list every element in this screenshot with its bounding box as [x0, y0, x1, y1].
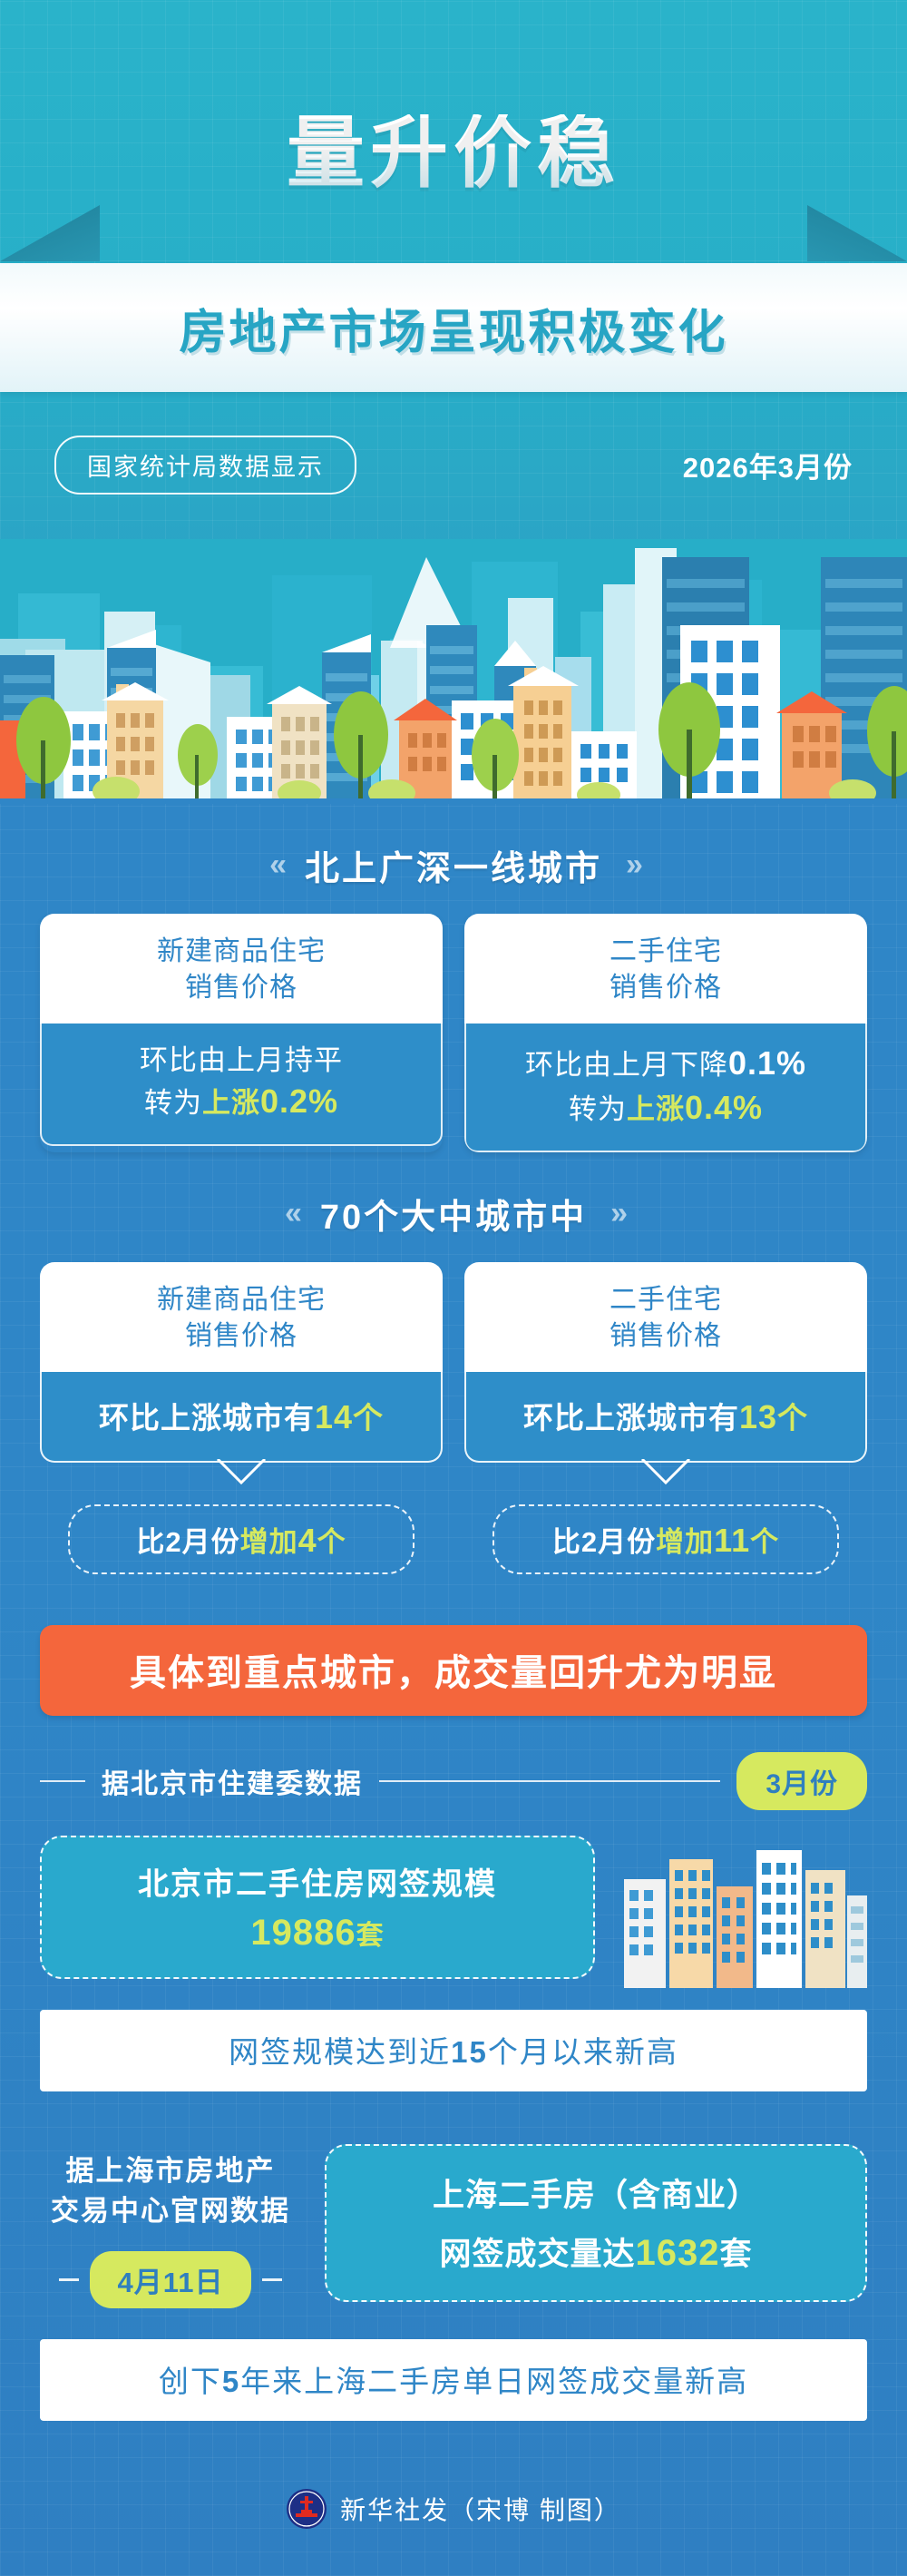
source-rule-right: [379, 1780, 720, 1782]
title-line-2: 销售价格: [49, 970, 434, 1006]
body-unit: 个: [353, 1401, 384, 1435]
beijing-stat-card: 北京市二手住房网签规模 19886套: [40, 1836, 595, 1979]
beijing-source-row: 据北京市住建委数据 3月份: [0, 1716, 907, 1810]
beijing-stat-unit: 套: [356, 1921, 385, 1951]
dash-tick-right: [262, 2278, 282, 2281]
shanghai-stat-value: 1632: [636, 2233, 720, 2273]
tier1-card-new-homes-body: 环比由上月持平 转为上涨0.2%: [40, 1024, 443, 1146]
skyline-svg: [0, 539, 907, 804]
source-pill: 国家统计局数据显示: [54, 436, 356, 495]
tier2-card-new-homes: 新建商品住宅 销售价格 环比上涨城市有14个 比2月份增加4个: [40, 1262, 443, 1574]
note-value: 11: [714, 1522, 750, 1559]
note-value: 4: [298, 1522, 317, 1559]
body-line-1: 环比由上月持平: [51, 1042, 432, 1080]
infographic-page: 量升价稳 房地产市场呈现积极变化 国家统计局数据显示 2026年3月份: [0, 0, 907, 2576]
section-heading-tier2-label: 70个大中城市中: [320, 1189, 587, 1239]
tier2-card-new-homes-title: 新建商品住宅 销售价格: [40, 1262, 443, 1372]
key-cities-banner: 具体到重点城市，成交量回升尤为明显: [40, 1625, 867, 1716]
shanghai-stat-label: 上海二手房（含商业）: [345, 2170, 847, 2216]
shanghai-highlight-bar: 创下5年来上海二手房单日网签成交量新高: [40, 2339, 867, 2421]
beijing-month-pill: 3月份: [736, 1752, 867, 1810]
bubble-tail-icon: [216, 1459, 267, 1484]
header-meta-row: 国家统计局数据显示 2026年3月份: [0, 392, 907, 495]
footer-credit-row: 新华社发（宋博 制图）: [0, 2421, 907, 2566]
shanghai-date-row: 4月11日: [40, 2251, 301, 2308]
body-line-2-prefix: 转为: [144, 1087, 202, 1119]
body-line-2: 转为上涨0.4%: [475, 1086, 856, 1131]
title-line-2: 销售价格: [473, 1318, 858, 1355]
buildings-svg: [617, 1843, 867, 1988]
page-subtitle: 房地产市场呈现积极变化: [179, 294, 727, 362]
body-line-2-prefix: 转为: [569, 1093, 627, 1125]
shanghai-source-column: 据上海市房地产 交易中心官网数据 4月11日: [40, 2144, 301, 2308]
shanghai-stat-value-row: 网签成交量达1632套: [345, 2228, 847, 2275]
body-line-1-prefix: 环比由上月下降: [525, 1049, 728, 1081]
city-skyline-illustration: [0, 539, 907, 804]
beijing-block: 北京市二手住房网签规模 19886套: [0, 1810, 907, 1979]
body-line-1-value: 0.1%: [728, 1044, 806, 1082]
shanghai-highlight-value: 5: [222, 2365, 240, 2398]
body-value: 14: [315, 1398, 353, 1435]
beijing-source-label: 据北京市住建委数据: [102, 1761, 363, 1801]
chevron-left-icon: «: [285, 1196, 297, 1231]
chevron-left-icon: «: [269, 847, 281, 883]
header-section: 量升价稳 房地产市场呈现积极变化 国家统计局数据显示 2026年3月份: [0, 0, 907, 804]
title-line-1: 二手住宅: [473, 1282, 858, 1318]
tier2-card-secondhand-title: 二手住宅 销售价格: [464, 1262, 867, 1372]
section-heading-tier1: « 北上广深一线城市 »: [0, 804, 907, 914]
title-line-2: 销售价格: [49, 1318, 434, 1355]
shanghai-date-pill: 4月11日: [90, 2251, 250, 2308]
body-line-2-value: 0.2%: [260, 1082, 338, 1120]
beijing-stat-label: 北京市二手住房网签规模: [58, 1859, 577, 1904]
body-prefix: 环比上涨城市有: [523, 1401, 739, 1435]
main-title-wrap: 量升价稳: [0, 0, 907, 263]
body-prefix: 环比上涨城市有: [99, 1401, 315, 1435]
footer-credit-text: 新华社发（宋博 制图）: [340, 2491, 621, 2527]
shanghai-stat-unit: 套: [719, 2237, 752, 2272]
title-line-1: 二手住宅: [473, 934, 858, 970]
tier2-card-secondhand-homes: 二手住宅 销售价格 环比上涨城市有13个 比2月份增加11个: [464, 1262, 867, 1574]
shanghai-highlight-suffix: 年来上海二手房单日网签成交量新高: [240, 2365, 748, 2398]
tier2-card-secondhand-body: 环比上涨城市有13个: [464, 1372, 867, 1463]
chevron-right-icon: »: [626, 847, 638, 883]
shanghai-block: 据上海市房地产 交易中心官网数据 4月11日 上海二手房（含商业） 网签成交量达…: [0, 2091, 907, 2308]
tier1-card-new-homes-title: 新建商品住宅 销售价格: [40, 914, 443, 1024]
beijing-highlight-prefix: 网签规模达到近: [229, 2035, 451, 2069]
section-heading-tier1-label: 北上广深一线城市: [305, 840, 602, 890]
section-heading-tier2: « 70个大中城市中 »: [0, 1152, 907, 1262]
tier2-note-new-homes: 比2月份增加4个: [68, 1504, 414, 1574]
tier1-card-secondhand-body: 环比由上月下降0.1% 转为上涨0.4%: [464, 1024, 867, 1152]
xinhua-logo-icon: [286, 2488, 327, 2530]
source-rule-left: [40, 1780, 85, 1782]
beijing-stat-value: 19886: [250, 1913, 356, 1953]
beijing-highlight-bar: 网签规模达到近15个月以来新高: [40, 2010, 867, 2091]
note-highlight: 增加: [656, 1526, 714, 1558]
title-line-2: 销售价格: [473, 970, 858, 1006]
tier1-card-row: 新建商品住宅 销售价格 环比由上月持平 转为上涨0.2% 二手住宅 销售价格 环…: [0, 914, 907, 1152]
body-line-2: 转为上涨0.2%: [51, 1080, 432, 1124]
bubble-tail-icon: [640, 1459, 691, 1484]
title-line-1: 新建商品住宅: [49, 934, 434, 970]
note-prefix: 比2月份: [552, 1526, 656, 1558]
shanghai-source-line-1: 据上海市房地产: [40, 2151, 301, 2191]
body-unit: 个: [777, 1401, 808, 1435]
shanghai-source-line-2: 交易中心官网数据: [40, 2191, 301, 2231]
shanghai-highlight-prefix: 创下: [159, 2365, 222, 2398]
note-prefix: 比2月份: [136, 1526, 239, 1558]
beijing-highlight-suffix: 个月以来新高: [488, 2035, 678, 2069]
shanghai-stat-prefix: 网签成交量达: [439, 2237, 635, 2272]
chevron-right-icon: »: [610, 1196, 622, 1231]
note-unit: 个: [317, 1526, 346, 1558]
body-value: 13: [739, 1398, 777, 1435]
subtitle-band: 房地产市场呈现积极变化: [0, 263, 907, 392]
tier2-card-row: 新建商品住宅 销售价格 环比上涨城市有14个 比2月份增加4个 二手住宅 销售价…: [0, 1262, 907, 1574]
tier1-card-secondhand-title: 二手住宅 销售价格: [464, 914, 867, 1024]
note-unit: 个: [750, 1526, 779, 1558]
beijing-highlight-value: 15: [451, 2035, 488, 2069]
beijing-buildings-illustration: [617, 1843, 867, 1988]
body-line-2-highlight: 上涨: [627, 1093, 685, 1125]
page-title: 量升价稳: [287, 114, 620, 192]
body-line-2-highlight: 上涨: [202, 1087, 260, 1119]
dash-tick-left: [59, 2278, 79, 2281]
tier1-card-secondhand-homes: 二手住宅 销售价格 环比由上月下降0.1% 转为上涨0.4%: [464, 914, 867, 1152]
title-line-1: 新建商品住宅: [49, 1282, 434, 1318]
body-line-2-value: 0.4%: [685, 1089, 763, 1126]
beijing-stat-value-row: 19886套: [58, 1913, 577, 1954]
body-line-1: 环比由上月下降0.1%: [475, 1042, 856, 1086]
tier2-card-new-homes-body: 环比上涨城市有14个: [40, 1372, 443, 1463]
shanghai-stat-card: 上海二手房（含商业） 网签成交量达1632套: [325, 2144, 867, 2302]
tier2-note-secondhand: 比2月份增加11个: [493, 1504, 839, 1574]
tier1-card-new-homes: 新建商品住宅 销售价格 环比由上月持平 转为上涨0.2%: [40, 914, 443, 1152]
note-highlight: 增加: [240, 1526, 298, 1558]
report-date: 2026年3月份: [683, 445, 853, 485]
